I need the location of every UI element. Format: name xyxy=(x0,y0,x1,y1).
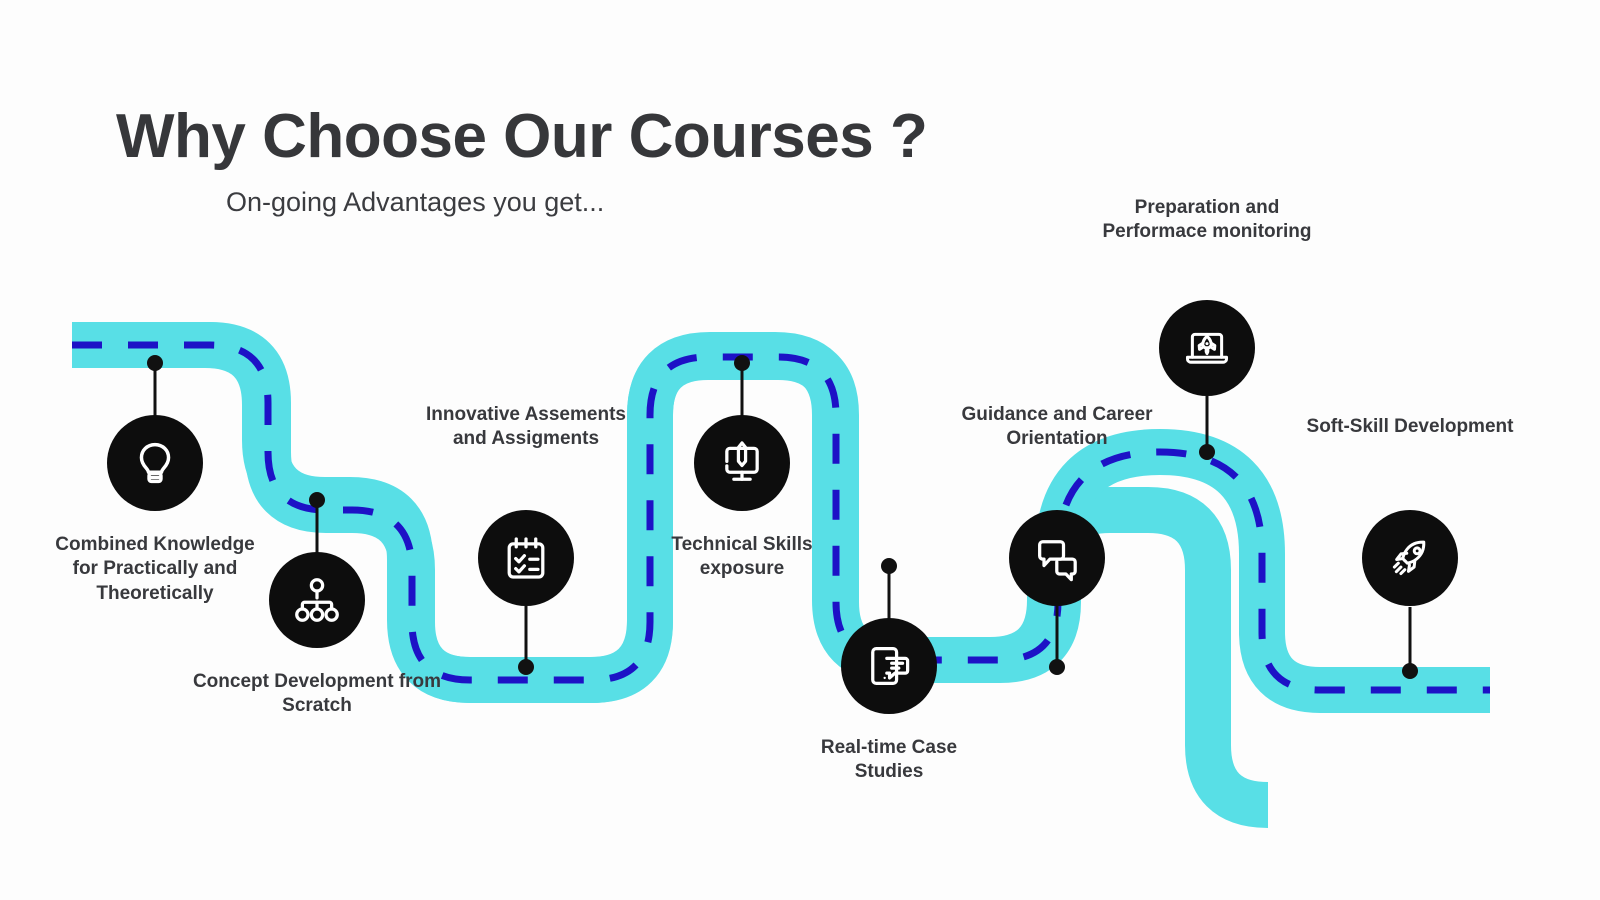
connector-line-3 xyxy=(525,606,528,664)
connector-line-5 xyxy=(888,566,891,622)
milestone-label-5: Real-time Case Studies xyxy=(784,736,994,785)
connector-line-1 xyxy=(154,363,157,419)
rocket-icon[interactable] xyxy=(1362,510,1458,606)
infographic-canvas: Why Choose Our Courses ? On-going Advant… xyxy=(0,0,1600,900)
page-subtitle: On-going Advantages you get... xyxy=(226,187,1116,218)
milestone-label-8: Soft-Skill Development xyxy=(1300,415,1520,439)
milestone-label-3: Innovative Assements and Assigments xyxy=(416,403,636,452)
header: Why Choose Our Courses ? On-going Advant… xyxy=(116,104,1116,218)
road-surface xyxy=(72,345,1490,690)
connector-line-2 xyxy=(316,500,319,556)
hierarchy-icon[interactable] xyxy=(269,552,365,648)
milestone-label-4: Technical Skills exposure xyxy=(637,533,847,582)
lightbulb-icon[interactable] xyxy=(107,415,203,511)
laptop-rocket-icon[interactable] xyxy=(1159,300,1255,396)
connector-line-4 xyxy=(741,363,744,419)
milestone-label-1: Combined Knowledge for Practically and T… xyxy=(50,533,260,606)
road-dashed-centerline xyxy=(72,345,1490,690)
speech-bubbles-icon[interactable] xyxy=(1009,510,1105,606)
connector-line-6 xyxy=(1056,606,1059,664)
tablet-chat-icon[interactable] xyxy=(841,618,937,714)
connector-line-8 xyxy=(1409,607,1412,669)
milestone-label-7: Preparation and Performace monitoring xyxy=(1097,196,1317,245)
milestone-label-6: Guidance and Career Orientation xyxy=(947,403,1167,452)
milestone-label-2: Concept Development from Scratch xyxy=(192,670,442,719)
checklist-clipboard-icon[interactable] xyxy=(478,510,574,606)
monitor-pen-icon[interactable] xyxy=(694,415,790,511)
page-title: Why Choose Our Courses ? xyxy=(116,104,1116,169)
connector-line-7 xyxy=(1206,396,1209,450)
